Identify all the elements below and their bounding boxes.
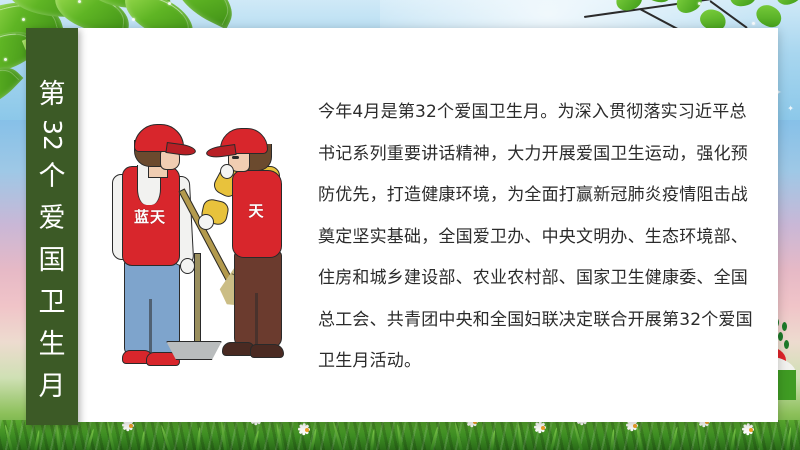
sparkle-icon: ✦ (787, 104, 794, 113)
right-worker-hand (198, 214, 214, 230)
slide-canvas: ✦ ✦ (0, 0, 800, 450)
daisy-icon (536, 421, 549, 434)
title-char-1: 32 (37, 119, 67, 151)
right-worker-eye (232, 156, 239, 159)
body-line: 书记系列重要讲话精神，大力开展爱国卫生运动，强化预 (318, 134, 768, 176)
title-char-6: 生 (39, 324, 66, 366)
daisy-icon (744, 423, 757, 436)
left-worker-vest-label: 蓝天 (124, 206, 176, 227)
right-worker-hand (220, 164, 234, 179)
body-line: 防优先，打造健康环境，为全面打赢新冠肺炎疫情阻击战 (318, 175, 768, 217)
right-worker-shoe (250, 344, 284, 358)
right-worker-figure: 天 (214, 126, 314, 384)
title-char-4: 国 (39, 240, 66, 282)
body-line: 卫生月活动。 (318, 341, 768, 383)
worker-illustration: 蓝天 天 (86, 108, 316, 383)
title-char-0: 第 (39, 74, 66, 116)
body-line: 总工会、共青团中央和全国妇联决定联合开展第32个爱国 (318, 300, 768, 342)
body-line: 今年4月是第32个爱国卫生月。为深入贯彻落实习近平总 (318, 92, 768, 134)
body-line: 奠定坚实基础，全国爱卫办、中央文明办、生态环境部、 (318, 217, 768, 259)
title-char-5: 卫 (39, 282, 66, 324)
right-worker-vest-label: 天 (232, 200, 280, 221)
title-char-2: 个 (39, 156, 66, 198)
title-char-3: 爱 (39, 198, 66, 240)
right-worker-pants (234, 250, 282, 348)
title-char-7: 月 (39, 366, 66, 408)
vertical-title-bar: 第 32 个 爱 国 卫 生 月 (26, 28, 78, 425)
daisy-icon (300, 423, 313, 436)
body-text-block: 今年4月是第32个爱国卫生月。为深入贯彻落实习近平总 书记系列重要讲话精神，大力… (318, 92, 768, 383)
body-line: 住房和城乡建设部、农业农村部、国家卫生健康委、全国 (318, 258, 768, 300)
